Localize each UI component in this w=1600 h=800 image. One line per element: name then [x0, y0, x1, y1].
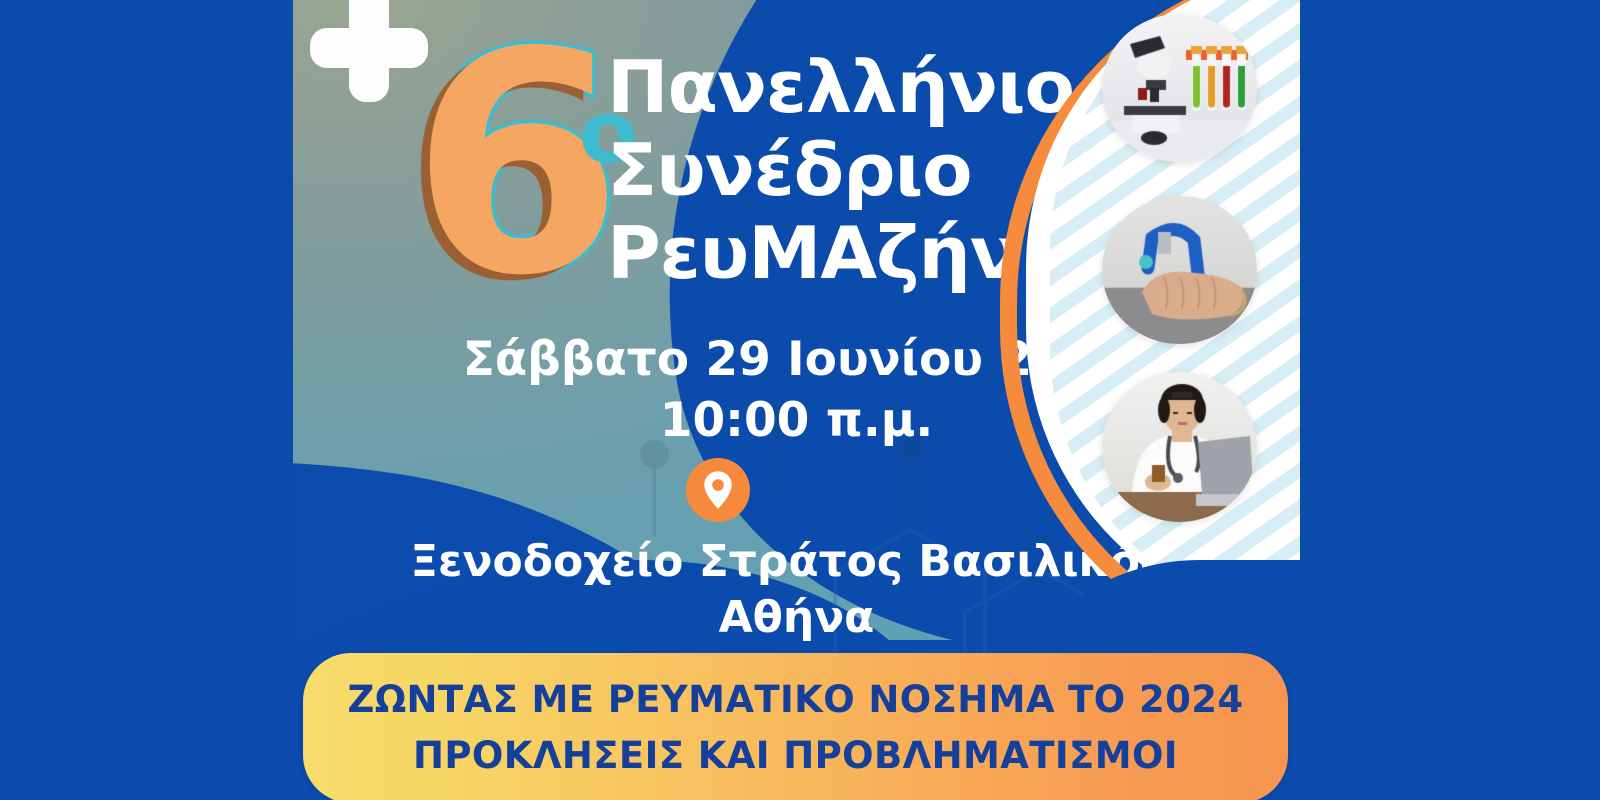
banner-line-1: ΖΩΝΤΑΣ ΜΕ ΡΕΥΜΑΤΙΚΟ ΝΟΣΗΜΑ ΤΟ 2024 — [347, 674, 1243, 726]
poster-canvas: 6 o Πανελλήνιο Συνέδριο ΡευΜΑζήν Σάββατο… — [0, 0, 1600, 800]
conference-poster: 6 o Πανελλήνιο Συνέδριο ΡευΜΑζήν Σάββατο… — [293, 0, 1300, 800]
left-gutter — [0, 0, 293, 800]
right-gutter — [1300, 0, 1600, 800]
theme-banner: ΖΩΝΤΑΣ ΜΕ ΡΕΥΜΑΤΙΚΟ ΝΟΣΗΜΑ ΤΟ 2024 ΠΡΟΚΛ… — [303, 653, 1288, 800]
doctor-at-laptop-photo — [1102, 372, 1257, 522]
edition-number-block: 6 o — [411, 40, 626, 308]
microscope-and-test-tubes-photo — [1102, 14, 1257, 162]
location-pin-icon — [686, 458, 750, 522]
banner-line-2: ΠΡΟΚΛΗΣΕΙΣ ΚΑΙ ΠΡΟΒΛΗΜΑΤΙΣΜΟΙ — [413, 730, 1178, 782]
hand-grip-dynamometer-photo — [1102, 196, 1257, 344]
